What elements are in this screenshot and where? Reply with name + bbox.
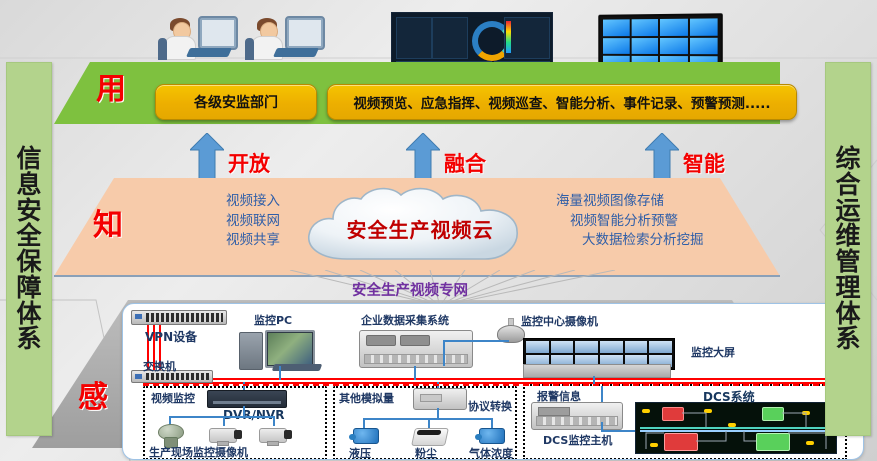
side-right-char-5: 管 bbox=[835, 249, 860, 275]
side-left-char-6: 障 bbox=[16, 275, 41, 301]
side-left-char-5: 保 bbox=[16, 249, 41, 275]
label-dcs-host: DCS监控主机 bbox=[543, 432, 612, 448]
operator-illustration-2 bbox=[245, 10, 325, 62]
label-site-cameras: 生产现场监控摄像机 bbox=[149, 444, 248, 460]
cloud-right-item-3: 大数据检索分析挖掘 bbox=[556, 231, 736, 251]
label-sensor-hydraulic: 液压 bbox=[349, 445, 371, 460]
trunk-line-dashed bbox=[143, 384, 849, 386]
dust-sensor-icon bbox=[413, 424, 447, 446]
link-dcs-trunk bbox=[601, 386, 603, 402]
cloud-capabilities-right: 海量视频图像存储 视频智能分析预警 大数据检索分析挖掘 bbox=[556, 192, 736, 251]
private-network-label: 安全生产视频专网 bbox=[352, 279, 468, 300]
label-center-camera: 监控中心摄像机 bbox=[521, 313, 598, 329]
side-right-char-2: 合 bbox=[835, 172, 860, 198]
box-camera-icon-2 bbox=[259, 426, 293, 444]
cloud-left-item-3: 视频共享 bbox=[160, 231, 280, 251]
protocol-converter-icon bbox=[413, 388, 467, 410]
dcs-host-icon bbox=[531, 402, 623, 430]
arrow-intelligent-label: 智能 bbox=[683, 148, 725, 178]
label-vpn-device: VPN设备 bbox=[145, 328, 197, 345]
cloud-title: 安全生产视频云 bbox=[285, 214, 555, 243]
label-sensor-dust: 粉尘 bbox=[415, 445, 437, 460]
link-pc-trunk bbox=[279, 366, 281, 380]
label-other-analog: 其他模拟量 bbox=[339, 390, 394, 406]
label-protocol-converter: 协议转换 bbox=[468, 398, 512, 414]
link-cam3 bbox=[273, 416, 275, 426]
arrow-fusion-label: 融合 bbox=[444, 148, 486, 178]
arrow-fusion bbox=[406, 133, 440, 185]
layer-sense-letter: 感 bbox=[78, 372, 108, 416]
link-camera-horizontal bbox=[443, 340, 509, 342]
box-supervision-departments[interactable]: 各级安监部门 bbox=[155, 84, 317, 120]
link-converter-down bbox=[437, 408, 439, 418]
label-monitor-pc: 监控PC bbox=[254, 312, 292, 328]
arrow-open-label: 开放 bbox=[228, 148, 270, 178]
trunk-line-main bbox=[143, 378, 849, 380]
link-cam2 bbox=[223, 416, 225, 426]
arrow-intelligent bbox=[645, 133, 679, 185]
label-dvr-nvr: DVR/NVR bbox=[223, 408, 284, 422]
operator-illustration-1 bbox=[158, 10, 238, 62]
side-right-char-3: 运 bbox=[835, 198, 860, 224]
cloud-left-item-1: 视频接入 bbox=[160, 192, 280, 212]
label-big-screen: 监控大屏 bbox=[691, 344, 735, 360]
label-switch: 交换机 bbox=[143, 358, 176, 374]
layer-know-letter: 知 bbox=[93, 200, 123, 244]
ptz-camera-icon bbox=[155, 424, 185, 446]
box-application-functions[interactable]: 视频预览、应急指挥、视频巡查、智能分析、事件记录、预警预测..... bbox=[327, 84, 797, 120]
cloud-right-item-1: 海量视频图像存储 bbox=[556, 192, 736, 212]
link-dvr-cams-v bbox=[243, 406, 245, 416]
cloud-left-item-2: 视频联网 bbox=[160, 212, 280, 232]
cloud-capabilities-left: 视频接入 视频联网 视频共享 bbox=[160, 192, 280, 251]
side-left-char-7: 体 bbox=[16, 301, 41, 327]
gas-sensor-icon bbox=[475, 426, 507, 446]
vpn-device-icon bbox=[131, 310, 227, 325]
link-dcs-host-screen-h bbox=[601, 430, 635, 432]
link-dvr-cams-h bbox=[169, 416, 275, 418]
arrow-open bbox=[190, 133, 224, 185]
sidebar-right-operations-management: 综 合 运 维 管 理 体 系 bbox=[825, 62, 871, 436]
side-left-char-1: 信 bbox=[16, 146, 41, 172]
layer-use-letter: 用 bbox=[96, 64, 126, 108]
side-right-char-6: 理 bbox=[835, 275, 860, 301]
label-video-surveillance: 视频监控 bbox=[151, 390, 195, 406]
label-sensor-gas: 气体浓度 bbox=[469, 445, 513, 460]
side-right-char-4: 维 bbox=[835, 223, 860, 249]
dvr-nvr-icon bbox=[207, 390, 287, 408]
monitor-pc-icon bbox=[239, 328, 329, 372]
side-left-char-8: 系 bbox=[16, 326, 41, 352]
box-camera-icon-1 bbox=[209, 426, 243, 444]
side-right-char-7: 体 bbox=[835, 301, 860, 327]
dcs-scada-screen bbox=[635, 402, 837, 454]
side-left-char-2: 息 bbox=[16, 172, 41, 198]
cloud-right-item-2: 视频智能分析预警 bbox=[556, 212, 736, 232]
diagram-canvas: 用 各级安监部门 视频预览、应急指挥、视频巡查、智能分析、事件记录、预警预测..… bbox=[0, 0, 877, 461]
sidebar-left-information-security: 信 息 安 全 保 障 体 系 bbox=[6, 62, 52, 436]
side-left-char-3: 安 bbox=[16, 198, 41, 224]
control-room-desk bbox=[523, 364, 671, 378]
label-data-collection: 企业数据采集系统 bbox=[361, 312, 449, 328]
side-right-char-1: 综 bbox=[835, 146, 860, 172]
side-left-char-4: 全 bbox=[16, 223, 41, 249]
data-collection-server-icon bbox=[359, 330, 473, 368]
hydraulic-sensor-icon bbox=[349, 426, 381, 446]
link-server-trunk bbox=[414, 366, 416, 380]
side-right-char-8: 系 bbox=[835, 326, 860, 352]
link-camera-server bbox=[443, 340, 445, 366]
sense-layer-panel: VPN设备 交换机 监控PC 企业数据采集系统 监控中心摄像机 bbox=[122, 303, 864, 460]
